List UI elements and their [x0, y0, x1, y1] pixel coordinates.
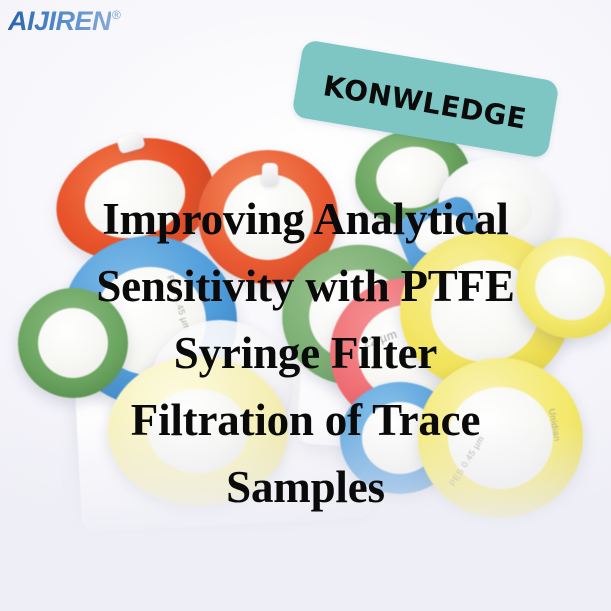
brand-wordmark: AIJIREN: [8, 8, 111, 35]
registered-trademark-icon: ®: [112, 9, 121, 21]
headline-line-2: Sensitivity with PTFE: [14, 253, 597, 320]
knowledge-banner: Unidian PES 0.45 µm 22 µm PES 0.45 µm Un…: [0, 0, 611, 611]
brand-logo[interactable]: AIJIREN ®: [8, 8, 121, 35]
headline-line-5: Samples: [14, 454, 597, 521]
nozzle-orange-center: [262, 163, 278, 185]
knowledge-badge-label: Konwledge: [321, 62, 530, 135]
headline-line-4: Filtration of Trace: [14, 387, 597, 454]
page-title: Improving Analytical Sensitivity with PT…: [0, 186, 611, 521]
headline-line-3: Syringe Filter: [14, 320, 597, 387]
headline-line-1: Improving Analytical: [14, 186, 597, 253]
